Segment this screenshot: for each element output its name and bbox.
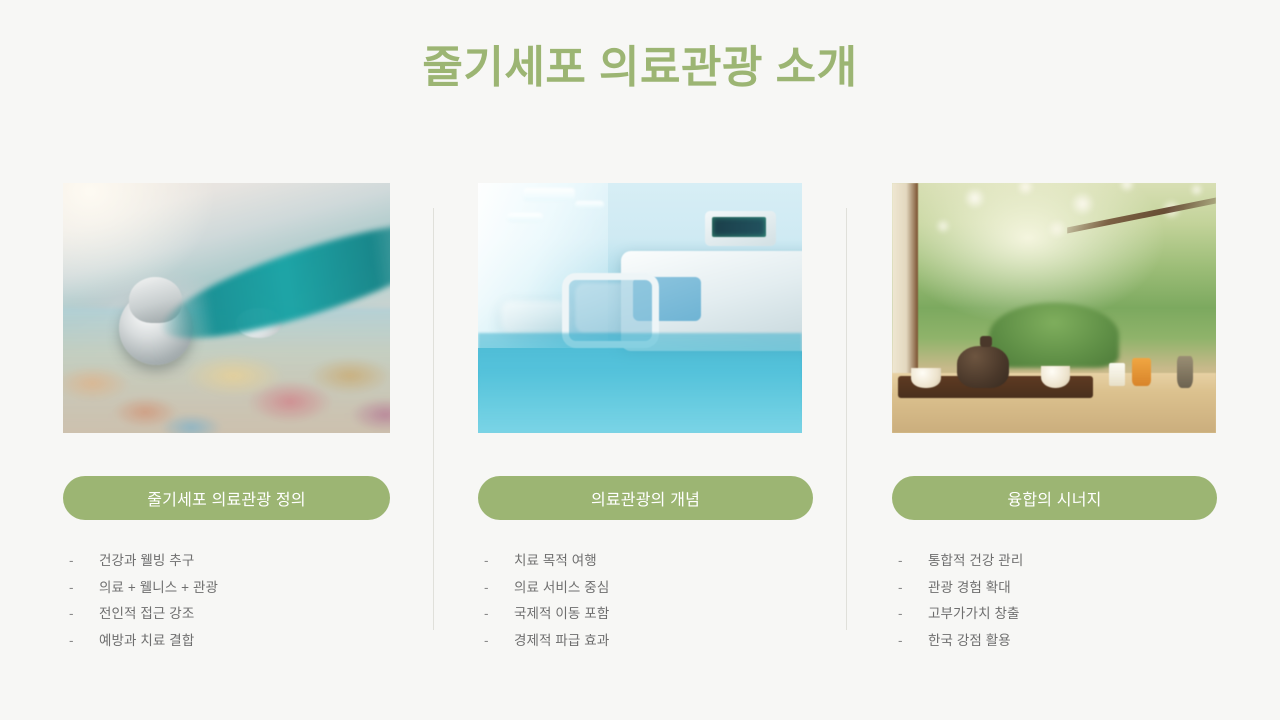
photo-image bbox=[892, 183, 1216, 433]
dash-icon: - bbox=[478, 606, 514, 621]
content-column-3: 융합의 시너지 - 통합적 건강 관리 - 관광 경험 확대 - 고부가가치 창… bbox=[892, 183, 1216, 433]
list-item: - 경제적 파급 효과 bbox=[478, 629, 802, 656]
photo-glare bbox=[63, 183, 213, 298]
flower-vase-shape bbox=[1177, 356, 1193, 389]
photo-image bbox=[63, 183, 390, 433]
dash-icon: - bbox=[63, 553, 99, 568]
list-item-label: 국제적 이동 포함 bbox=[514, 602, 609, 622]
photo-tea-window-blossoms bbox=[892, 183, 1216, 433]
ceiling-light-shape bbox=[507, 213, 543, 222]
bed-rail-shape bbox=[562, 273, 659, 348]
photo-stethoscope-map bbox=[63, 183, 390, 433]
dash-icon: - bbox=[63, 633, 99, 648]
teapot-shape bbox=[957, 346, 1009, 389]
bullet-list-3: - 통합적 건강 관리 - 관광 경험 확대 - 고부가가치 창출 - 한국 강… bbox=[892, 549, 1216, 655]
list-item: - 의료 + 웰니스 + 관광 bbox=[63, 576, 390, 603]
photo-image bbox=[478, 183, 802, 433]
slide-root: 줄기세포 의료관광 소개 줄기세포 의료관광 정의 - 건강과 웰빙 추구 - bbox=[0, 0, 1280, 720]
dash-icon: - bbox=[892, 580, 928, 595]
dash-icon: - bbox=[892, 633, 928, 648]
column-heading-pill-1[interactable]: 줄기세포 의료관광 정의 bbox=[63, 476, 390, 520]
jar-shape bbox=[1132, 358, 1151, 386]
dash-icon: - bbox=[63, 606, 99, 621]
garden-shrub-shape bbox=[989, 303, 1119, 368]
list-item: - 통합적 건강 관리 bbox=[892, 549, 1216, 576]
ceiling-light-shape bbox=[575, 201, 604, 209]
teacup-shape bbox=[1041, 366, 1070, 389]
page-title: 줄기세포 의료관광 소개 bbox=[0, 42, 1280, 95]
list-item: - 예방과 치료 결합 bbox=[63, 629, 390, 656]
list-item: - 치료 목적 여행 bbox=[478, 549, 802, 576]
list-item-label: 치료 목적 여행 bbox=[514, 549, 597, 569]
dash-icon: - bbox=[478, 553, 514, 568]
list-item-label: 관광 경험 확대 bbox=[928, 576, 1011, 596]
list-item: - 관광 경험 확대 bbox=[892, 576, 1216, 603]
glass-shape bbox=[1109, 363, 1125, 386]
content-column-2: 의료관광의 개념 - 치료 목적 여행 - 의료 서비스 중심 - 국제적 이동… bbox=[478, 183, 802, 433]
list-item-label: 건강과 웰빙 추구 bbox=[99, 549, 194, 569]
ceiling-light-shape bbox=[523, 188, 575, 201]
stethoscope-earpiece-shape bbox=[236, 308, 282, 338]
list-item-label: 통합적 건강 관리 bbox=[928, 549, 1023, 569]
dash-icon: - bbox=[478, 580, 514, 595]
photo-hospital-ward bbox=[478, 183, 802, 433]
list-item-label: 경제적 파급 효과 bbox=[514, 629, 609, 649]
teacup-shape bbox=[911, 368, 940, 388]
window-frame-shape bbox=[892, 183, 918, 393]
bullet-list-1: - 건강과 웰빙 추구 - 의료 + 웰니스 + 관광 - 전인적 접근 강조 … bbox=[63, 549, 390, 655]
list-item: - 고부가가치 창출 bbox=[892, 602, 1216, 629]
vital-monitor-shape bbox=[705, 211, 776, 246]
list-item: - 건강과 웰빙 추구 bbox=[63, 549, 390, 576]
list-item-label: 고부가가치 창출 bbox=[928, 602, 1020, 622]
stethoscope-head-shape bbox=[119, 291, 193, 365]
list-item-label: 의료 서비스 중심 bbox=[514, 576, 609, 596]
dash-icon: - bbox=[63, 580, 99, 595]
list-item-label: 의료 + 웰니스 + 관광 bbox=[99, 576, 218, 596]
column-heading-pill-3[interactable]: 융합의 시너지 bbox=[892, 476, 1217, 520]
list-item: - 한국 강점 활용 bbox=[892, 629, 1216, 656]
column-heading-pill-2[interactable]: 의료관광의 개념 bbox=[478, 476, 813, 520]
dash-icon: - bbox=[892, 553, 928, 568]
list-item: - 전인적 접근 강조 bbox=[63, 602, 390, 629]
content-column-1: 줄기세포 의료관광 정의 - 건강과 웰빙 추구 - 의료 + 웰니스 + 관광… bbox=[63, 183, 390, 433]
hospital-bed-shape bbox=[501, 301, 572, 334]
blossom-branch-shape bbox=[1067, 193, 1216, 268]
dash-icon: - bbox=[478, 633, 514, 648]
bullet-list-2: - 치료 목적 여행 - 의료 서비스 중심 - 국제적 이동 포함 - 경제적… bbox=[478, 549, 802, 655]
dash-icon: - bbox=[892, 606, 928, 621]
list-item: - 의료 서비스 중심 bbox=[478, 576, 802, 603]
list-item: - 국제적 이동 포함 bbox=[478, 602, 802, 629]
list-item-label: 전인적 접근 강조 bbox=[99, 602, 194, 622]
columns-container: 줄기세포 의료관광 정의 - 건강과 웰빙 추구 - 의료 + 웰니스 + 관광… bbox=[0, 183, 1280, 663]
list-item-label: 한국 강점 활용 bbox=[928, 629, 1011, 649]
list-item-label: 예방과 치료 결합 bbox=[99, 629, 194, 649]
